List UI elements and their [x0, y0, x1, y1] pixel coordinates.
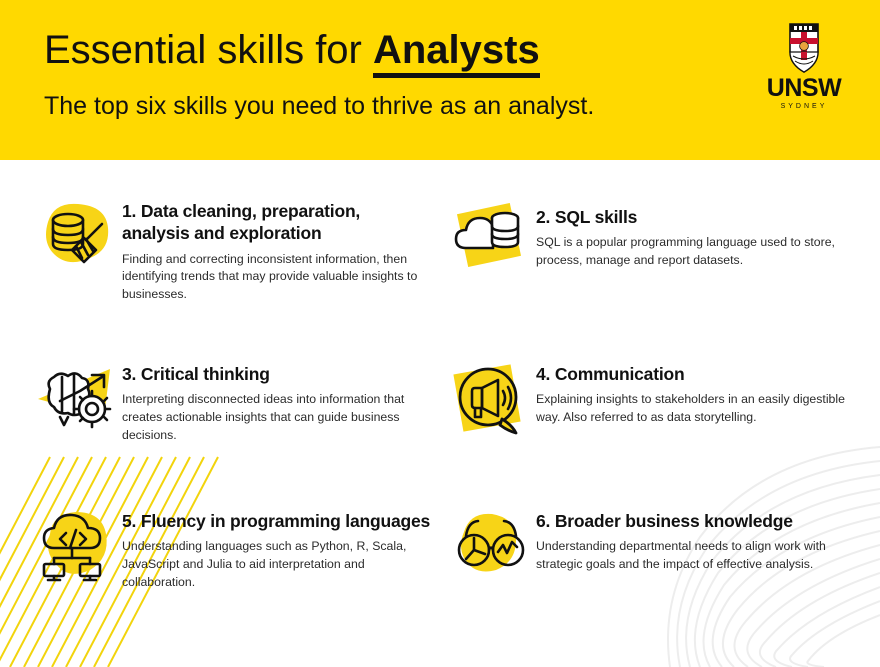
skill-description: Finding and correcting inconsistent info…: [122, 251, 432, 304]
skill-description: Interpreting disconnected ideas into inf…: [122, 391, 432, 444]
skill-card-3: 3. Critical thinking Interpreting discon…: [30, 355, 450, 447]
skill-card-4: 4. Communication Explaining insights to …: [444, 355, 864, 447]
skill-description: Explaining insights to stakeholders in a…: [536, 391, 856, 426]
skill-card-1: 1. Data cleaning, preparation, analysis …: [30, 192, 450, 304]
page-title-plain: Essential skills for: [44, 28, 373, 72]
page-subtitle: The top six skills you need to thrive as…: [44, 92, 594, 121]
cloud-code-network-icon: [30, 500, 122, 592]
skill-description: Understanding languages such as Python, …: [122, 538, 432, 591]
skill-title: 6. Broader business knowledge: [536, 510, 846, 532]
unsw-sydney-label: SYDNEY: [756, 103, 852, 110]
unsw-crest-icon: [784, 22, 824, 74]
skill-title: 2. SQL skills: [536, 206, 856, 228]
glasses-charts-icon: [444, 500, 536, 592]
skill-card-2: 2. SQL skills SQL is a popular programmi…: [444, 192, 864, 284]
page-title-accent: Analysts: [373, 28, 540, 78]
cloud-database-icon: [444, 192, 536, 284]
brain-gear-arrow-icon: [30, 355, 122, 447]
skill-description: SQL is a popular programming language us…: [536, 234, 856, 269]
skill-title: 3. Critical thinking: [122, 363, 432, 385]
skill-card-6: 6. Broader business knowledge Understand…: [444, 500, 864, 592]
skill-title: 4. Communication: [536, 363, 856, 385]
skills-grid: 1. Data cleaning, preparation, analysis …: [0, 160, 880, 667]
header-banner: Essential skills for Analysts The top si…: [0, 0, 880, 160]
skill-title: 5. Fluency in programming languages: [122, 510, 432, 532]
megaphone-speech-bubble-icon: [444, 355, 536, 447]
unsw-logo: UNSW SYDNEY: [756, 22, 852, 126]
database-broom-icon: [30, 192, 122, 284]
skill-title: 1. Data cleaning, preparation, analysis …: [122, 200, 432, 245]
skill-card-5: 5. Fluency in programming languages Unde…: [30, 500, 450, 592]
skill-description: Understanding departmental needs to alig…: [536, 538, 846, 573]
unsw-wordmark: UNSW: [756, 76, 852, 101]
page-title: Essential skills for Analysts: [44, 28, 540, 73]
